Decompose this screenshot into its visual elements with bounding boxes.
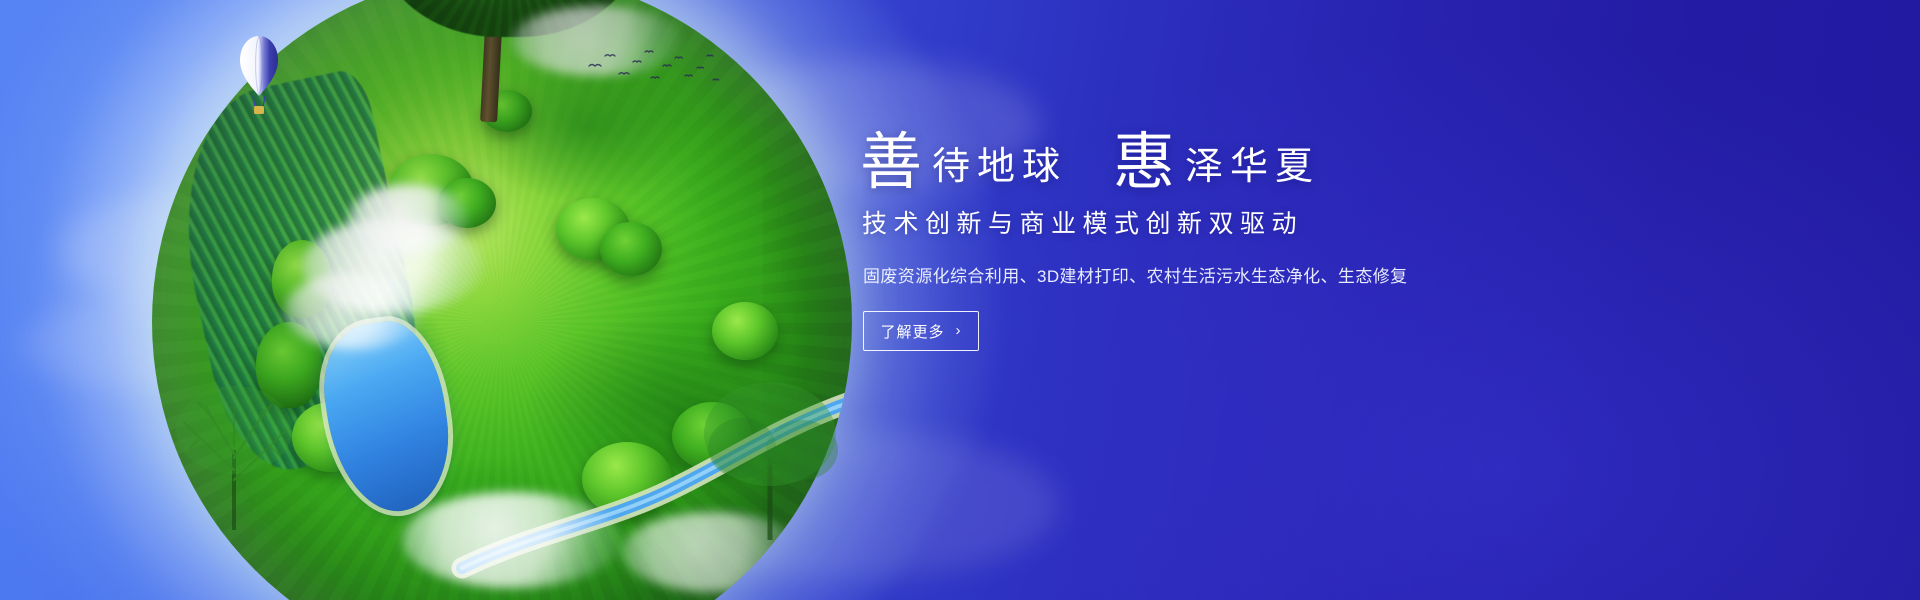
foreground-tree: [690, 330, 850, 540]
birds-flock-icon: [585, 44, 725, 94]
headline-part2-small: 泽华夏: [1185, 148, 1320, 186]
headline-description: 固废资源化综合利用、3D建材打印、农村生活污水生态净化、生态修复: [863, 262, 1560, 287]
hero-content: 善 待地球 惠 泽华夏 技术创新与商业模式创新双驱动 固废资源化综合利用、3D建…: [860, 128, 1560, 351]
headline-part2-big: 惠: [1113, 132, 1175, 194]
headline-part1-small: 待地球: [932, 148, 1067, 186]
foreground-tree: [160, 330, 310, 530]
headline: 善 待地球 惠 泽华夏: [860, 128, 1560, 190]
headline-part1-big: 善: [860, 132, 922, 194]
hero-banner: 善 待地球 惠 泽华夏 技术创新与商业模式创新双驱动 固废资源化综合利用、3D建…: [0, 0, 1920, 600]
chevron-right-icon: ›: [956, 323, 962, 338]
learn-more-label: 了解更多: [880, 321, 944, 342]
learn-more-button[interactable]: 了解更多 ›: [863, 311, 979, 351]
headline-subtitle: 技术创新与商业模式创新双驱动: [862, 204, 1560, 240]
hot-air-balloon-icon: [236, 34, 282, 120]
